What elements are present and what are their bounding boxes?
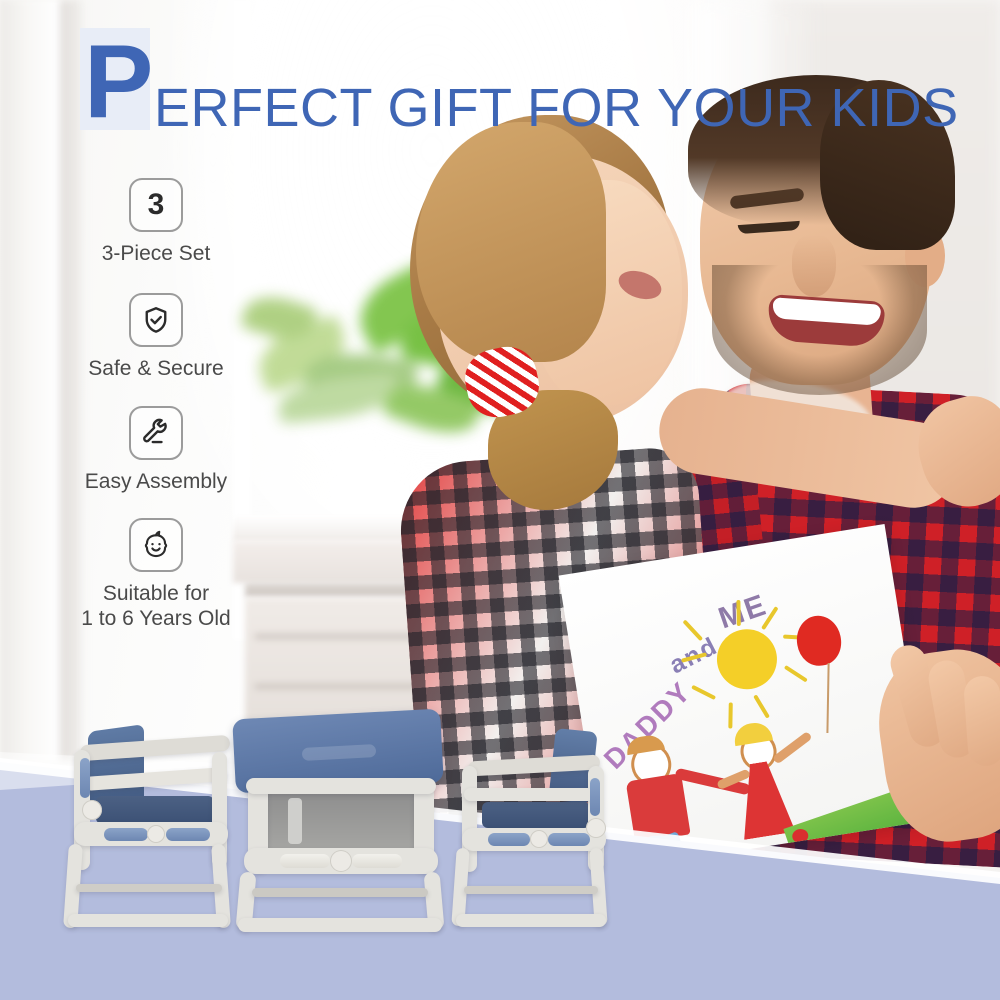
drawing-balloon <box>793 613 844 669</box>
promo-banner: DADDY and ME <box>0 0 1000 1000</box>
feature-label: 3-Piece Set <box>102 242 211 267</box>
kids-table-center <box>230 712 450 934</box>
dad-nose <box>792 235 836 297</box>
girl-hair-front <box>416 122 606 362</box>
feature-item-safe-secure: Safe & Secure <box>56 293 256 382</box>
feature-label: Suitable for 1 to 6 Years Old <box>81 582 230 632</box>
headline-dropcap-wrap: P <box>84 34 154 130</box>
feature-label: Easy Assembly <box>85 470 227 495</box>
feature-label: Safe & Secure <box>88 357 223 382</box>
headline: P ERFECT GIFT FOR YOUR KIDS <box>84 34 959 140</box>
feature-list: 3 3-Piece Set Safe & Secure Easy As <box>56 178 256 632</box>
headline-text: ERFECT GIFT FOR YOUR KIDS <box>154 80 959 136</box>
shield-check-icon <box>129 293 183 347</box>
feature-item-age-range: Suitable for 1 to 6 Years Old <box>56 518 256 632</box>
wrench-icon <box>129 406 183 460</box>
kids-chair-left <box>62 718 242 933</box>
drawing-balloon-string <box>826 663 829 733</box>
dad-finger-3 <box>963 675 1000 767</box>
headline-dropcap: P <box>84 34 153 130</box>
feature-item-easy-assembly: Easy Assembly <box>56 406 256 495</box>
number-three-icon: 3 <box>129 178 183 232</box>
kids-chair-right <box>452 730 622 930</box>
drawing-dad-body <box>626 773 691 843</box>
feature-item-3-piece-set: 3 3-Piece Set <box>56 178 256 267</box>
drawing-girl-arm2 <box>772 731 813 765</box>
table-storage-divider <box>288 798 302 844</box>
father-and-daughter: DADDY and ME <box>400 60 1000 840</box>
baby-face-icon <box>129 518 183 572</box>
drawing-sun <box>713 625 782 694</box>
feature-badge-number: 3 <box>148 190 165 220</box>
